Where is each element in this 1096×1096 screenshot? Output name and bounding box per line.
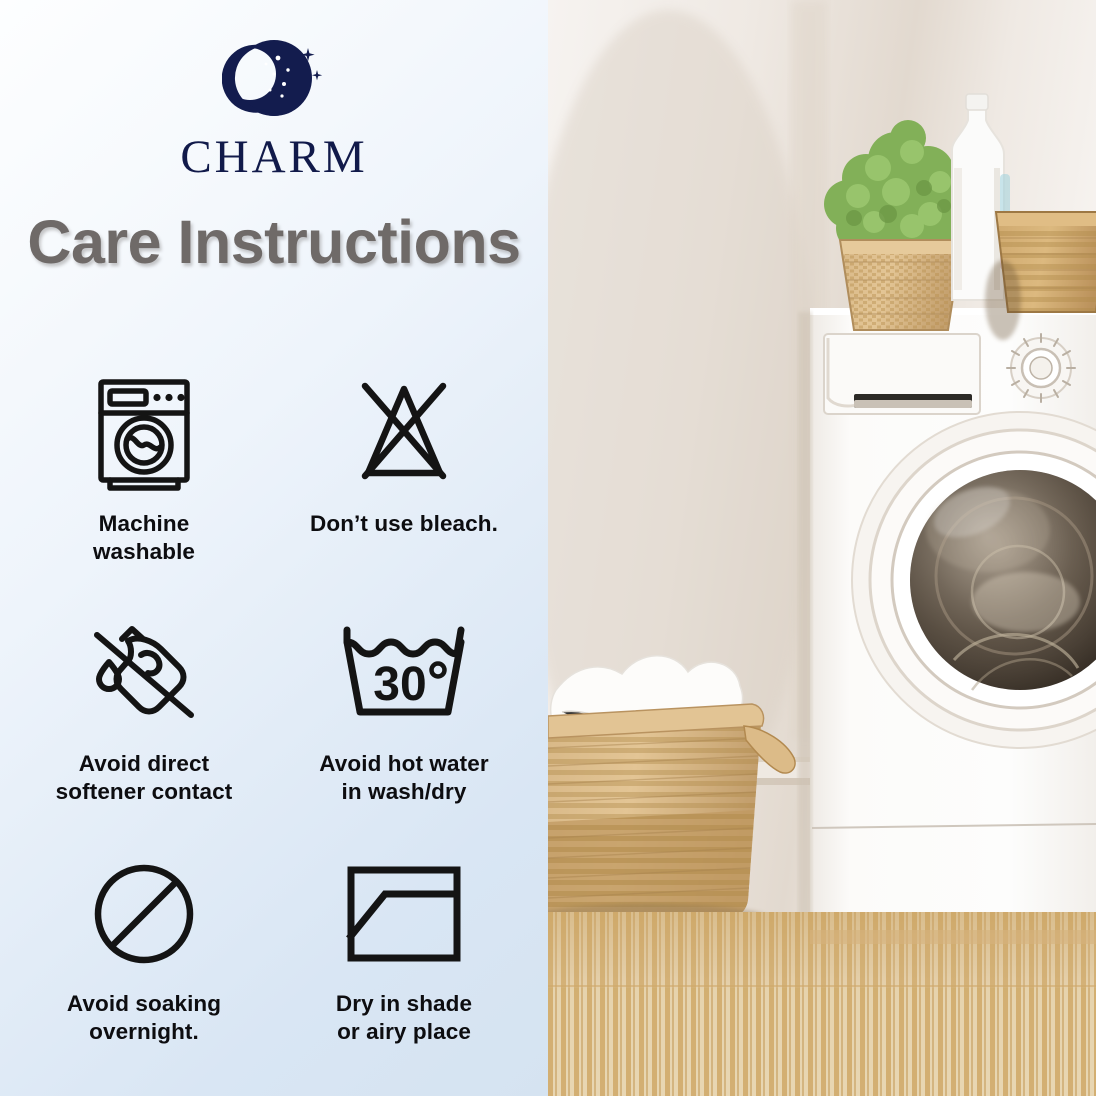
svg-text:30: 30: [373, 658, 426, 711]
care-item-label: Avoid soaking overnight.: [67, 990, 221, 1046]
care-item-wash-30: 30 Avoid hot water in wash/dry: [274, 608, 534, 848]
washing-machine-icon: [88, 368, 200, 500]
care-item-label: Machine washable: [93, 510, 195, 566]
page-title: Care Instructions: [0, 210, 548, 274]
care-item-label: Avoid hot water in wash/dry: [319, 750, 488, 806]
prohibited-circle-slash-icon: [88, 848, 200, 980]
care-item-no-softener: Avoid direct softener contact: [14, 608, 274, 848]
brand-wordmark: CHARM: [180, 134, 367, 181]
care-item-dry-in-shade: Dry in shade or airy place: [274, 848, 534, 1088]
care-item-label: Avoid direct softener contact: [56, 750, 233, 806]
laundry-room-photo: [548, 0, 1096, 1096]
care-item-no-soaking: Avoid soaking overnight.: [14, 848, 274, 1088]
care-item-no-bleach: Don’t use bleach.: [274, 368, 534, 608]
care-item-machine-washable: Machine washable: [14, 368, 274, 608]
no-fabric-softener-icon: [85, 608, 203, 740]
wash-30-degrees-icon: 30: [338, 608, 470, 740]
brand-block: CHARM: [0, 34, 548, 181]
info-panel: CHARM Care Instructions: [0, 0, 548, 1096]
care-instructions-graphic: CHARM Care Instructions: [0, 0, 1096, 1096]
care-icon-grid: Machine washable Don’t use bleach.: [14, 368, 534, 1088]
dry-in-shade-icon: [341, 848, 467, 980]
care-item-label: Dry in shade or airy place: [336, 990, 472, 1046]
care-item-label: Don’t use bleach.: [310, 510, 498, 538]
laundry-room-illustration: [548, 0, 1096, 1096]
no-bleach-triangle-icon: [348, 368, 460, 500]
crescent-moon-stars-icon: [222, 34, 326, 130]
